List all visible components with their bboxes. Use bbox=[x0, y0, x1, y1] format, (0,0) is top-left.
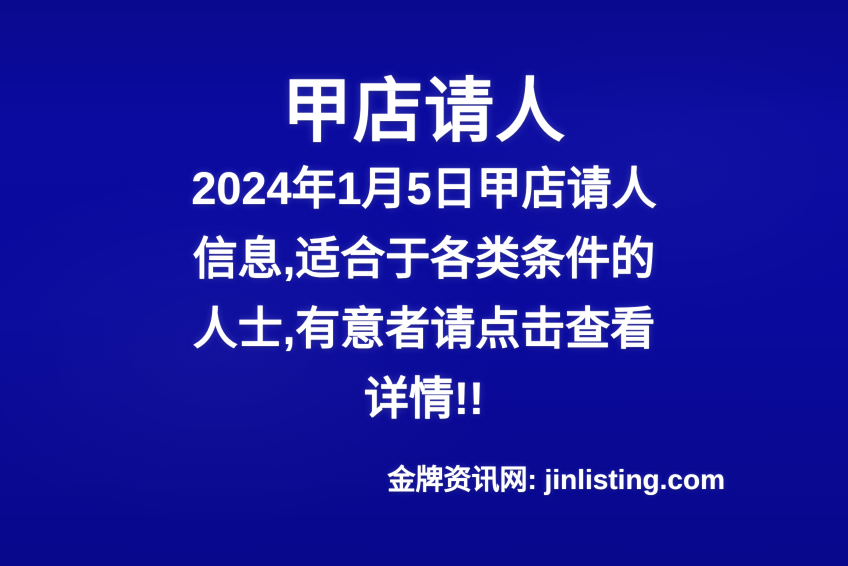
page-title: 甲店请人 bbox=[0, 74, 848, 150]
announcement-line-4: 详情!! bbox=[0, 364, 848, 434]
announcement-line-1: 2024年1月5日甲店请人 bbox=[0, 154, 848, 224]
announcement-line-3: 人士,有意者请点击查看 bbox=[0, 294, 848, 364]
poster-canvas: 甲店请人 2024年1月5日甲店请人 信息,适合于各类条件的 人士,有意者请点击… bbox=[0, 0, 848, 566]
poster-content: 甲店请人 2024年1月5日甲店请人 信息,适合于各类条件的 人士,有意者请点击… bbox=[0, 0, 848, 566]
announcement-line-2: 信息,适合于各类条件的 bbox=[0, 224, 848, 294]
site-credit: 金牌资讯网: jinlisting.com bbox=[0, 463, 848, 497]
announcement-body: 2024年1月5日甲店请人 信息,适合于各类条件的 人士,有意者请点击查看 详情… bbox=[0, 154, 848, 434]
